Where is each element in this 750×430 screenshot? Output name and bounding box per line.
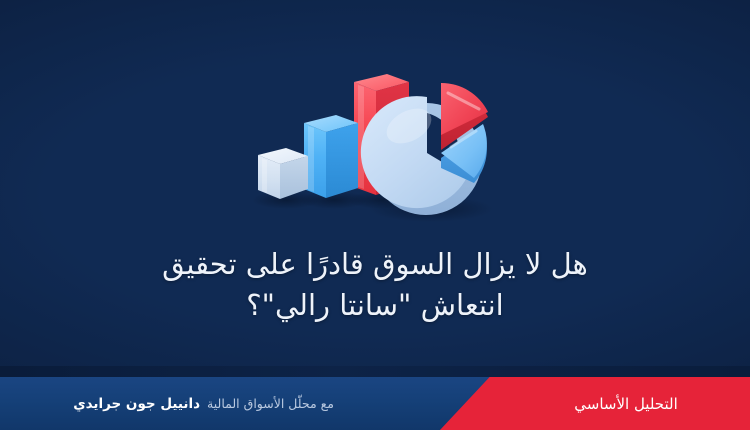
- category-label: التحليل الأساسي: [490, 377, 750, 430]
- byline-prefix: مع محلّل الأسواق المالية: [207, 396, 334, 411]
- author-name: دانييل جون جرايدي: [73, 396, 200, 412]
- headline-line-2: انتعاش "سانتا رالي"؟: [0, 285, 750, 326]
- bar-small-cube: [258, 148, 308, 199]
- title-card: هل لا يزال السوق قادرًا على تحقيق انتعاش…: [0, 0, 750, 430]
- footer-top-strip: [0, 366, 750, 377]
- bar-medium-blue: [304, 115, 358, 198]
- byline: مع محلّل الأسواق المالية دانييل جون جراي…: [30, 377, 346, 430]
- headline-line-1: هل لا يزال السوق قادرًا على تحقيق: [0, 244, 750, 285]
- headline: هل لا يزال السوق قادرًا على تحقيق انتعاش…: [0, 244, 750, 326]
- chart-illustration: [246, 52, 516, 224]
